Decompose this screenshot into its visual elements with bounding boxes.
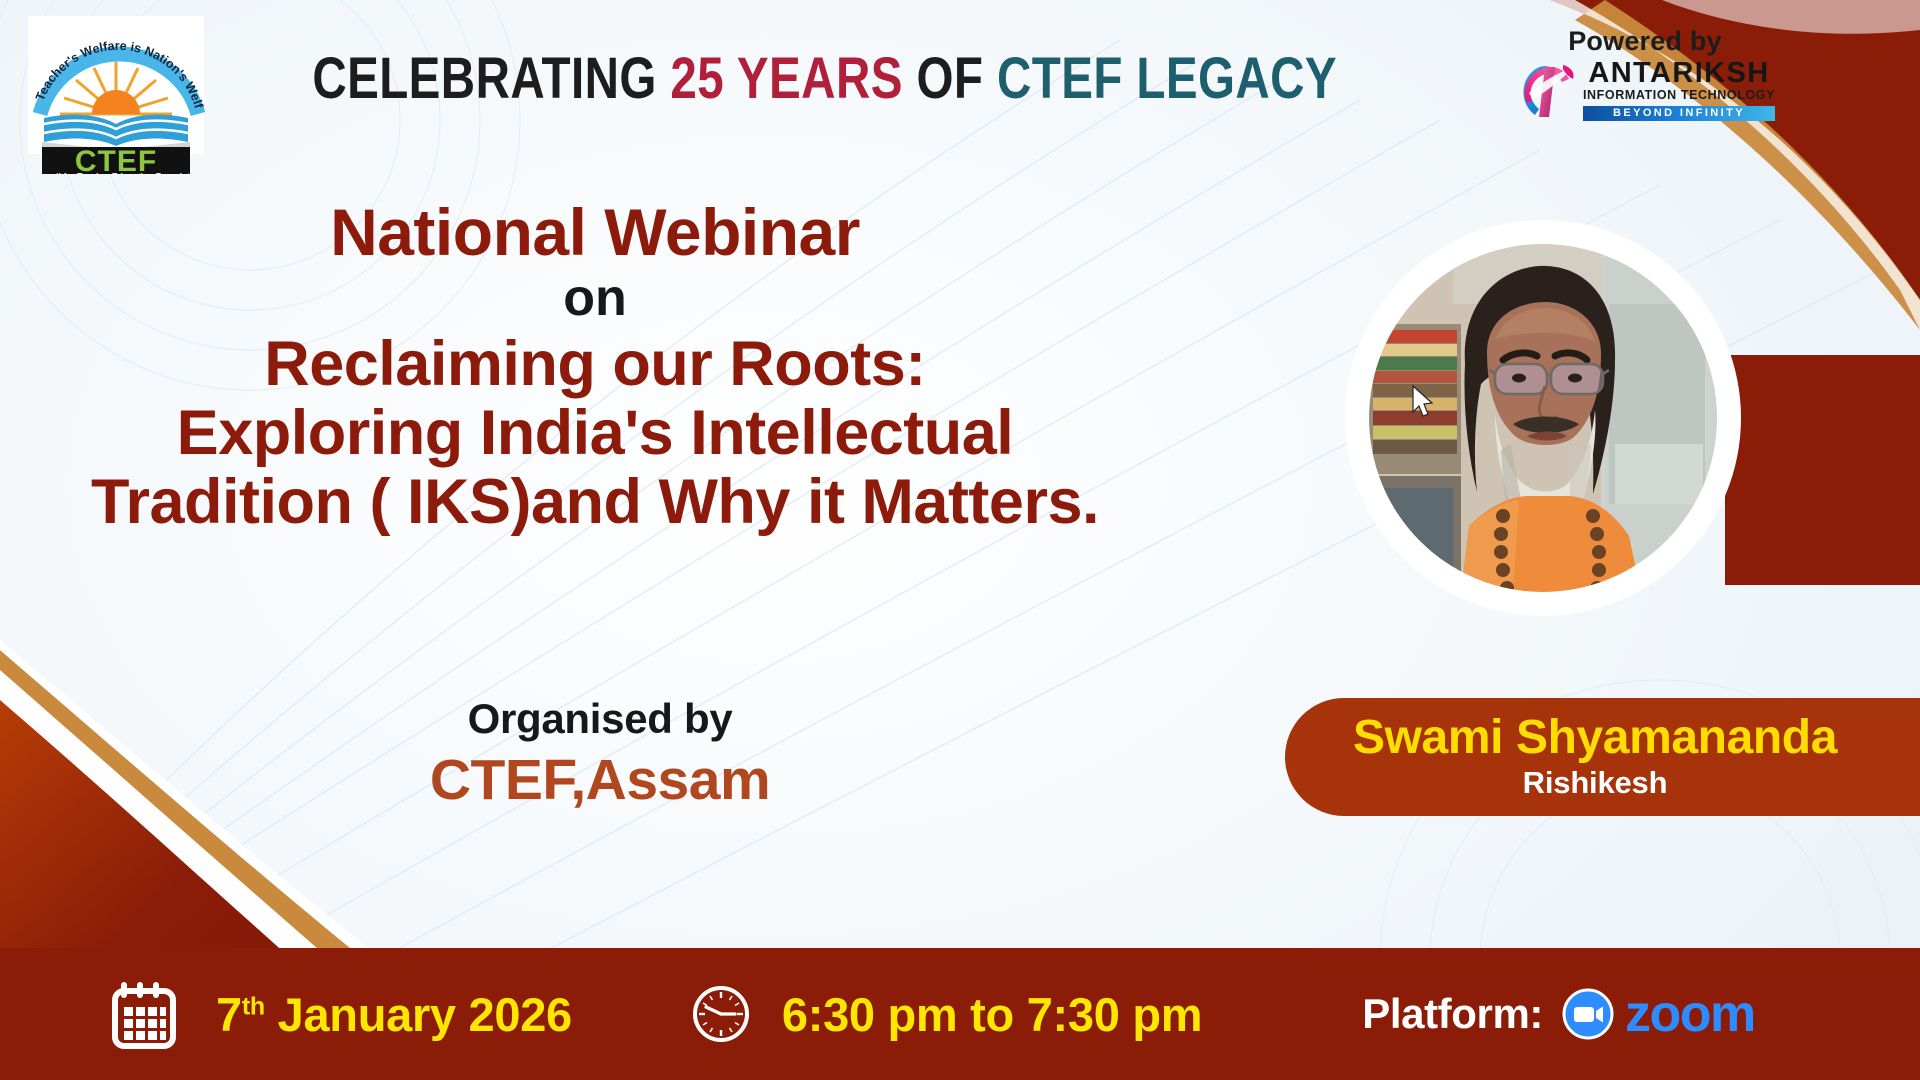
title-line-2: on xyxy=(40,268,1150,329)
organised-by-label: Organised by xyxy=(260,695,940,743)
webinar-poster: Teacher's Welfare is Nation's Welfare xyxy=(0,0,1920,1080)
header-years: 25 YEARS xyxy=(670,46,902,111)
antariksh-brand: ANTARIKSH xyxy=(1583,59,1775,88)
organiser-name: CTEF,Assam xyxy=(260,747,940,813)
event-date-rest: January 2026 xyxy=(265,988,572,1041)
zoom-wordmark: zoom xyxy=(1625,984,1755,1044)
header-legacy: CTEF LEGACY xyxy=(997,46,1337,111)
webinar-title-block: National Webinar on Reclaiming our Roots… xyxy=(40,198,1150,536)
speaker-photo-accent-block xyxy=(1725,355,1920,585)
powered-by-label: Powered by xyxy=(1480,26,1810,57)
zoom-logo: zoom xyxy=(1561,984,1755,1044)
title-line-3: Reclaiming our Roots: xyxy=(40,331,1150,398)
antariksh-logo-icon xyxy=(1515,59,1579,121)
speaker-name: Swami Shyamananda xyxy=(1353,713,1837,763)
header-of: OF xyxy=(916,46,983,111)
header-celebrating: CELEBRATING xyxy=(312,46,656,111)
calendar-icon xyxy=(112,979,178,1049)
title-line-4: Exploring India's Intellectual xyxy=(40,400,1150,467)
title-line-1: National Webinar xyxy=(40,198,1150,268)
event-date-ordinal: th xyxy=(242,992,265,1020)
title-line-5: Tradition ( IKS)and Why it Matters. xyxy=(40,469,1150,536)
clock-icon xyxy=(690,983,752,1045)
antariksh-tagline: BEYOND INFINITY xyxy=(1583,106,1775,121)
event-time-group: 6:30 pm to 7:30 pm xyxy=(690,983,1202,1045)
event-date-day: 7 xyxy=(216,988,242,1041)
svg-text:CTEF: CTEF xyxy=(75,145,157,174)
platform-label: Platform: xyxy=(1362,990,1543,1038)
event-date-group: 7th January 2026 xyxy=(112,979,572,1049)
organiser-block: Organised by CTEF,Assam xyxy=(260,695,940,813)
event-date: 7th January 2026 xyxy=(216,987,572,1042)
speaker-location: Rishikesh xyxy=(1523,765,1668,801)
powered-by-block: Powered by xyxy=(1480,26,1810,121)
zoom-camera-icon xyxy=(1561,987,1615,1041)
platform-group: Platform: zoom xyxy=(1362,984,1755,1044)
svg-text:Council for Teacher Education: Council for Teacher Education Foundation xyxy=(29,171,202,174)
antariksh-subtitle: INFORMATION TECHNOLOGY xyxy=(1583,88,1775,104)
speaker-photo xyxy=(1369,244,1717,592)
event-details-bar: 7th January 2026 xyxy=(0,948,1920,1080)
event-time: 6:30 pm to 7:30 pm xyxy=(782,987,1202,1042)
speaker-name-banner: Swami Shyamananda Rishikesh xyxy=(1285,698,1920,816)
